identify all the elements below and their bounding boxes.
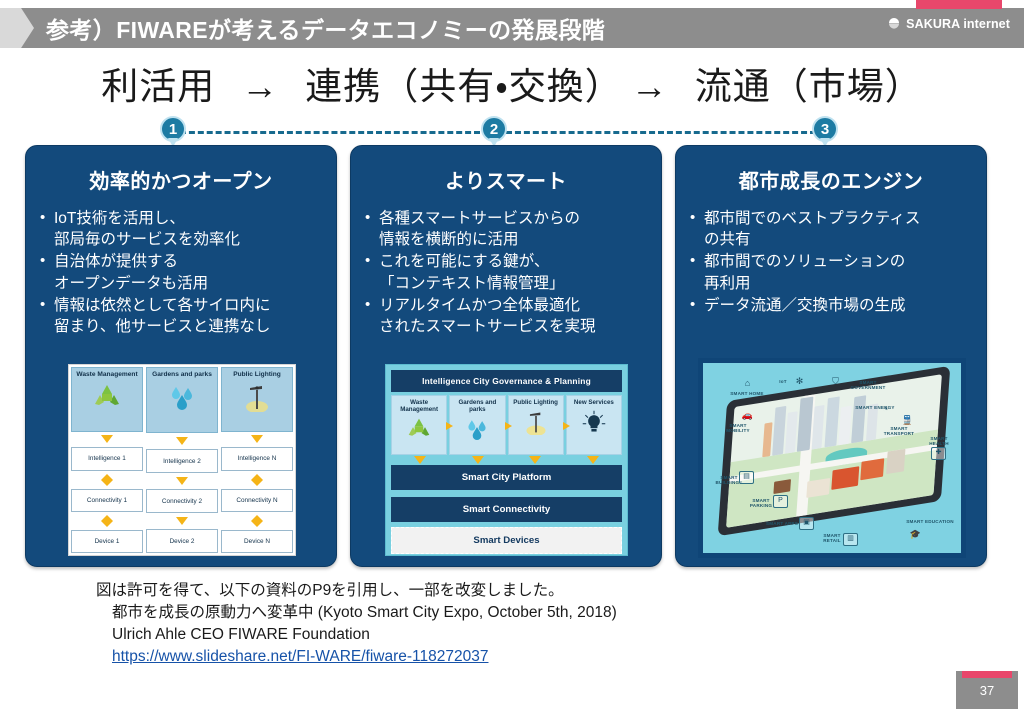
silo-arrow	[146, 436, 218, 446]
silo-arrow	[221, 515, 293, 527]
service-label: Waste Management	[392, 399, 446, 413]
timeline-marker-2: 2	[481, 116, 507, 146]
silo-column-3: Public Lighting Intelligence N Connectiv…	[221, 367, 293, 553]
stage-card-3-title: 都市成長のエンジン	[676, 165, 986, 194]
list-item: 都市間でのソリューションの 再利用	[690, 251, 978, 293]
silo-box: Connectivity 1	[71, 489, 143, 512]
smart-city-platform-band: Smart City Platform	[391, 465, 622, 490]
timeline-dash-2	[506, 131, 816, 134]
smart-home-icon: ⌂	[741, 378, 754, 389]
silo-box: Connectivity 2	[146, 489, 218, 513]
apps-icon: ▣	[799, 517, 814, 530]
silo-box: Intelligence 1	[71, 447, 143, 470]
list-item: IoT技術を活用し、 部局毎のサービスを効率化	[40, 208, 328, 250]
silo-column-2: Gardens and parks Intelligence 2 Connect…	[146, 367, 218, 553]
list-item: 情報は依然として各サイロ内に 留まり、他サービスと連携なし	[40, 295, 328, 337]
list-item: 都市間でのベストプラクティス の共有	[690, 208, 978, 250]
retail-icon: ▥	[843, 533, 858, 546]
silo-column-2-header: Gardens and parks	[146, 367, 218, 433]
silo-column-1: Waste Management Intelligence 1 Connecti…	[71, 367, 143, 553]
label-smart-home: SMART HOME	[727, 391, 767, 396]
arrow-2-icon: →	[623, 66, 677, 107]
footer-line-3: Ulrich Ahle CEO FIWARE Foundation	[112, 624, 896, 646]
label-iot: IoT	[775, 379, 791, 384]
page-number-badge: 37	[956, 671, 1018, 709]
stage-card-1-bullets: IoT技術を活用し、 部局毎のサービスを効率化 自治体が提供する オープンデータ…	[26, 208, 336, 337]
platform-arrow	[391, 456, 449, 464]
service-label: Public Lighting	[513, 399, 558, 406]
silo-arrow	[146, 516, 218, 526]
sakura-internet-logo: SAKURA internet	[886, 16, 1010, 32]
sakura-blossom-icon	[886, 16, 902, 32]
service-label: New Services	[574, 399, 614, 406]
service-new-services: New Services	[566, 395, 622, 455]
title-part-1: 利活用	[101, 66, 215, 107]
streetlight-icon	[240, 382, 274, 417]
figure-silo-columns: Waste Management Intelligence 1 Connecti…	[68, 364, 296, 556]
service-waste-management: Waste Management	[391, 395, 447, 455]
figure-layered-platform: Intelligence City Governance & Planning …	[385, 364, 628, 556]
water-drops-icon	[462, 416, 492, 445]
platform-arrow	[449, 456, 507, 464]
silo-arrow	[71, 474, 143, 486]
service-gardens-parks: Gardens and parks	[449, 395, 505, 455]
service-arrow-icon	[505, 422, 512, 430]
silo-column-3-title: Public Lighting	[232, 371, 282, 379]
silo-box: Device N	[221, 530, 293, 553]
platform-arrow	[507, 456, 565, 464]
label-smart-mobility: SMART MOBILITY	[717, 423, 759, 434]
label-smart-transport: SMART TRANSPORT	[875, 426, 923, 437]
transport-icon: 🚆	[901, 415, 914, 426]
label-smart-apps: SMART APPS	[765, 521, 799, 526]
arrow-1-icon: →	[233, 66, 287, 107]
smart-city-scene: SMART HOME ⌂ IoT ✻ SMART GOVERNMENT ⛉ SM…	[703, 363, 961, 553]
footer-citation: 図は許可を得て、以下の資料のP9を引用し、一部を改変しました。 都市を成長の原動…	[96, 580, 896, 668]
list-item: 各種スマートサービスからの 情報を横断的に活用	[365, 208, 653, 250]
silo-arrow	[146, 476, 218, 486]
government-icon: ⛉	[829, 376, 842, 387]
footer-line-2: 都市を成長の原動力へ変革中 (Kyoto Smart City Expo, Oc…	[112, 602, 896, 624]
list-item: 自治体が提供する オープンデータも活用	[40, 251, 328, 293]
list-item: これを可能にする鍵が、 「コンテキスト情報管理」	[365, 251, 653, 293]
page-title: 利活用→連携（共有・交換）→流通（市場）	[0, 56, 1024, 110]
timeline-marker-3: 3	[812, 116, 838, 146]
stage-card-2-title: よりスマート	[351, 165, 661, 194]
service-public-lighting: Public Lighting	[508, 395, 564, 455]
timeline-marker-1: 1	[160, 116, 186, 146]
recycle-icon	[90, 382, 124, 415]
governance-band: Intelligence City Governance & Planning	[391, 370, 622, 392]
header-accent-bar	[916, 0, 1002, 9]
silo-box: Device 2	[146, 529, 218, 553]
streetlight-icon	[521, 409, 551, 440]
iot-icon: ✻	[793, 376, 806, 387]
platform-arrows-row	[391, 456, 622, 464]
silo-box: Intelligence 2	[146, 449, 218, 473]
figure-smart-city-tablet: SMART HOME ⌂ IoT ✻ SMART GOVERNMENT ⛉ SM…	[698, 358, 966, 558]
silo-arrow	[71, 515, 143, 527]
education-icon: 🎓	[909, 529, 922, 540]
service-label: Gardens and parks	[450, 399, 504, 413]
silo-box: Connectivity N	[221, 489, 293, 512]
title-part-3: 流通（市場）	[695, 66, 923, 107]
smart-devices-band: Smart Devices	[391, 527, 622, 554]
silo-column-3-header: Public Lighting	[221, 367, 293, 432]
silo-box: Device 1	[71, 530, 143, 553]
silo-column-1-title: Waste Management	[75, 371, 138, 379]
list-item: リアルタイムかつ全体最適化 されたスマートサービスを実現	[365, 295, 653, 337]
silo-arrow	[221, 435, 293, 445]
parking-icon: P	[773, 495, 788, 508]
stage-card-1-title: 効率的かつオープン	[26, 165, 336, 194]
lightbulb-icon	[579, 409, 609, 440]
service-arrow-icon	[563, 422, 570, 430]
label-smart-education: SMART EDUCATION	[905, 519, 955, 524]
list-item: データ流通／交換市場の生成	[690, 295, 978, 316]
logo-text: SAKURA internet	[906, 17, 1010, 31]
stage-card-2-bullets: 各種スマートサービスからの 情報を横断的に活用 これを可能にする鍵が、 「コンテ…	[351, 208, 661, 337]
service-row: Waste Management Gardens and parks	[391, 395, 622, 455]
silo-arrow	[221, 474, 293, 486]
source-link[interactable]: https://www.slideshare.net/FI-WARE/fiwar…	[112, 648, 488, 665]
header-title: 参考）FIWAREが考えるデータエコノミーの発展段階	[46, 11, 605, 45]
label-smart-government: SMART GOVERNMENT	[843, 380, 893, 391]
buildings-icon: ▤	[739, 471, 754, 484]
page-badge-accent	[962, 671, 1012, 678]
water-drops-icon	[165, 382, 199, 415]
timeline-dash-1	[180, 131, 480, 134]
silo-column-1-header: Waste Management	[71, 367, 143, 432]
smart-connectivity-band: Smart Connectivity	[391, 497, 622, 522]
stage-card-3-bullets: 都市間でのベストプラクティス の共有 都市間でのソリューションの 再利用 データ…	[676, 208, 986, 316]
title-part-2: 連携（共有・交換）	[305, 66, 623, 107]
silo-box: Intelligence N	[221, 447, 293, 470]
platform-arrow	[564, 456, 622, 464]
label-smart-health: SMART HEALTH	[921, 436, 957, 447]
footer-line-1: 図は許可を得て、以下の資料のP9を引用し、一部を改変しました。	[96, 580, 896, 602]
recycle-icon	[404, 416, 434, 445]
silo-column-2-title: Gardens and parks	[151, 371, 213, 379]
energy-icon: ◔	[879, 404, 892, 415]
mobility-icon: 🚗	[741, 410, 754, 421]
page-number: 37	[956, 683, 1018, 698]
service-arrow-icon	[446, 422, 453, 430]
health-icon: ✚	[931, 447, 946, 460]
silo-arrow	[71, 435, 143, 445]
